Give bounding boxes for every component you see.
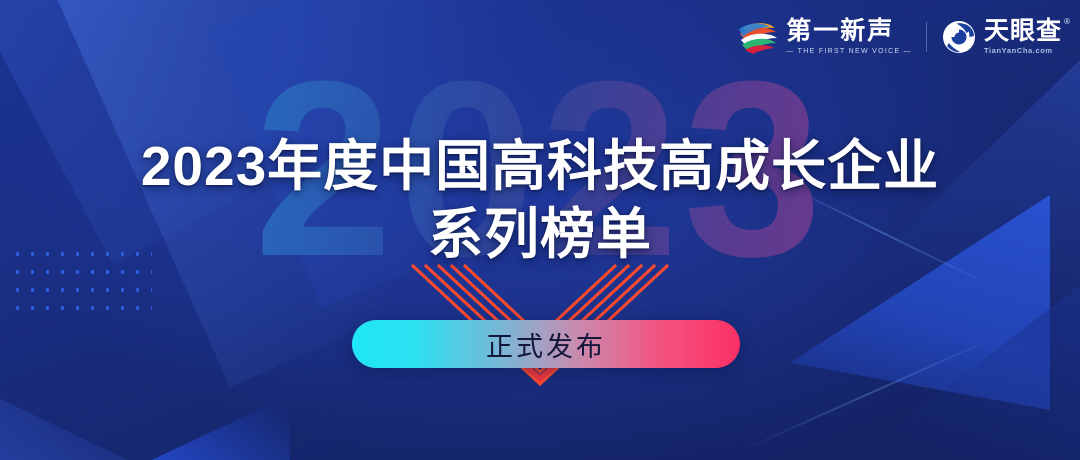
- diyixinsheng-swirl-logo-icon: [737, 19, 779, 55]
- headline-block: 2023年度中国高科技高成长企业 系列榜单: [0, 138, 1080, 262]
- logo-divider: [926, 22, 927, 52]
- headline-line-1: 2023年度中国高科技高成长企业: [0, 138, 1080, 194]
- logo-tianyancha-name: 天眼查 ®: [984, 19, 1062, 44]
- logo-tianyancha-tagline: TianYanCha.com: [984, 47, 1062, 55]
- promo-banner: 2023 2023年度中国高科技高成长企业 系列榜单 正式发布: [0, 0, 1080, 460]
- release-status-label: 正式发布: [486, 325, 606, 364]
- logo-diyixinsheng-tagline: — THE FIRST NEW VOICE —: [786, 48, 912, 55]
- logo-diyixinsheng-name: 第一新声: [786, 19, 912, 44]
- logo-diyixinsheng[interactable]: 第一新声 — THE FIRST NEW VOICE —: [737, 19, 912, 55]
- logo-tianyancha[interactable]: 天眼查 ® TianYanCha.com: [941, 19, 1062, 55]
- tianyancha-eye-logo-icon: [941, 19, 977, 55]
- logo-tianyancha-name-text: 天眼查: [984, 17, 1062, 45]
- release-status-pill[interactable]: 正式发布: [352, 320, 740, 368]
- registered-trademark-icon: ®: [1064, 18, 1071, 26]
- logo-bar: 第一新声 — THE FIRST NEW VOICE — 天眼查 ® Tia: [737, 14, 1062, 60]
- headline-line-2: 系列榜单: [0, 206, 1080, 262]
